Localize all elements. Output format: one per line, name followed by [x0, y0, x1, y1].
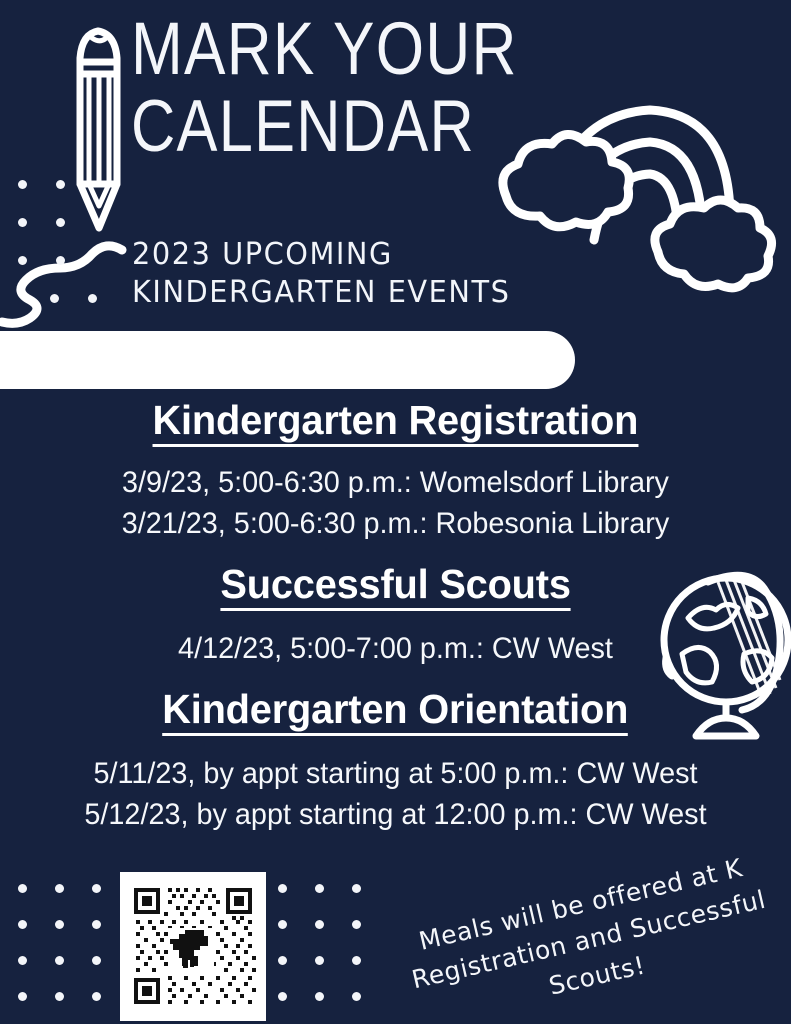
event-detail-line: 4/12/23, 5:00-7:00 p.m.: CW West [16, 634, 775, 664]
dot [315, 920, 324, 929]
dot [50, 294, 59, 303]
dot [18, 256, 27, 265]
dot [315, 992, 324, 1001]
title-line-2: Calendar [131, 91, 484, 163]
poster-canvas: Mark Your Calendar 2023 Upcoming Kinderg… [0, 0, 791, 1024]
subtitle-line-1: 2023 Upcoming [132, 236, 631, 274]
dot [92, 992, 101, 1001]
event-block: Kindergarten Orientation 5/11/23, by app… [0, 689, 791, 830]
dot [315, 956, 324, 965]
dot [18, 956, 27, 965]
poster-title: Mark Your Calendar [131, 12, 551, 164]
event-detail-line: 3/9/23, 5:00-6:30 p.m.: Womelsdorf Libra… [16, 468, 775, 498]
dinosaur-logo [168, 928, 214, 972]
dot [92, 884, 101, 893]
dot [56, 256, 65, 265]
event-detail-line: 3/21/23, 5:00-6:30 p.m.: Robesonia Libra… [16, 509, 775, 539]
dot [18, 180, 27, 189]
dot-grid-bottom-middle [278, 884, 378, 1014]
event-detail-line: 5/11/23, by appt starting at 5:00 p.m.: … [16, 759, 775, 789]
event-heading: Kindergarten Registration [153, 400, 639, 447]
event-heading: Kindergarten Orientation [162, 689, 628, 736]
dot [55, 884, 64, 893]
dot [18, 218, 27, 227]
event-heading: Successful Scouts [220, 564, 570, 611]
dot [56, 218, 65, 227]
dot [55, 920, 64, 929]
white-banner-bar [0, 331, 575, 389]
dot [352, 956, 361, 965]
dot [18, 992, 27, 1001]
dot-grid-bottom-left [0, 884, 120, 1014]
dot [278, 884, 287, 893]
dot [278, 992, 287, 1001]
title-line-1: Mark Your [131, 12, 484, 85]
dot [18, 920, 27, 929]
poster-subtitle: 2023 Upcoming Kindergarten Events [132, 236, 652, 313]
dot [88, 294, 97, 303]
qr-code[interactable] [120, 872, 266, 1021]
dot [315, 884, 324, 893]
dot [352, 992, 361, 1001]
dot [92, 920, 101, 929]
dot [352, 920, 361, 929]
meals-note: Meals will be offered at K Registration … [391, 844, 788, 1024]
dot [352, 884, 361, 893]
subtitle-line-2: Kindergarten Events [132, 274, 631, 312]
event-block: Successful Scouts 4/12/23, 5:00-7:00 p.m… [0, 564, 791, 664]
events-list: Kindergarten Registration 3/9/23, 5:00-6… [0, 400, 791, 830]
dot [55, 956, 64, 965]
dot [56, 180, 65, 189]
dot [278, 956, 287, 965]
dot [278, 920, 287, 929]
dot [55, 992, 64, 1001]
event-detail-line: 5/12/23, by appt starting at 12:00 p.m.:… [16, 800, 775, 830]
dot [92, 956, 101, 965]
event-block: Kindergarten Registration 3/9/23, 5:00-6… [0, 400, 791, 539]
dot-grid-top-left [0, 180, 120, 310]
dot [18, 884, 27, 893]
